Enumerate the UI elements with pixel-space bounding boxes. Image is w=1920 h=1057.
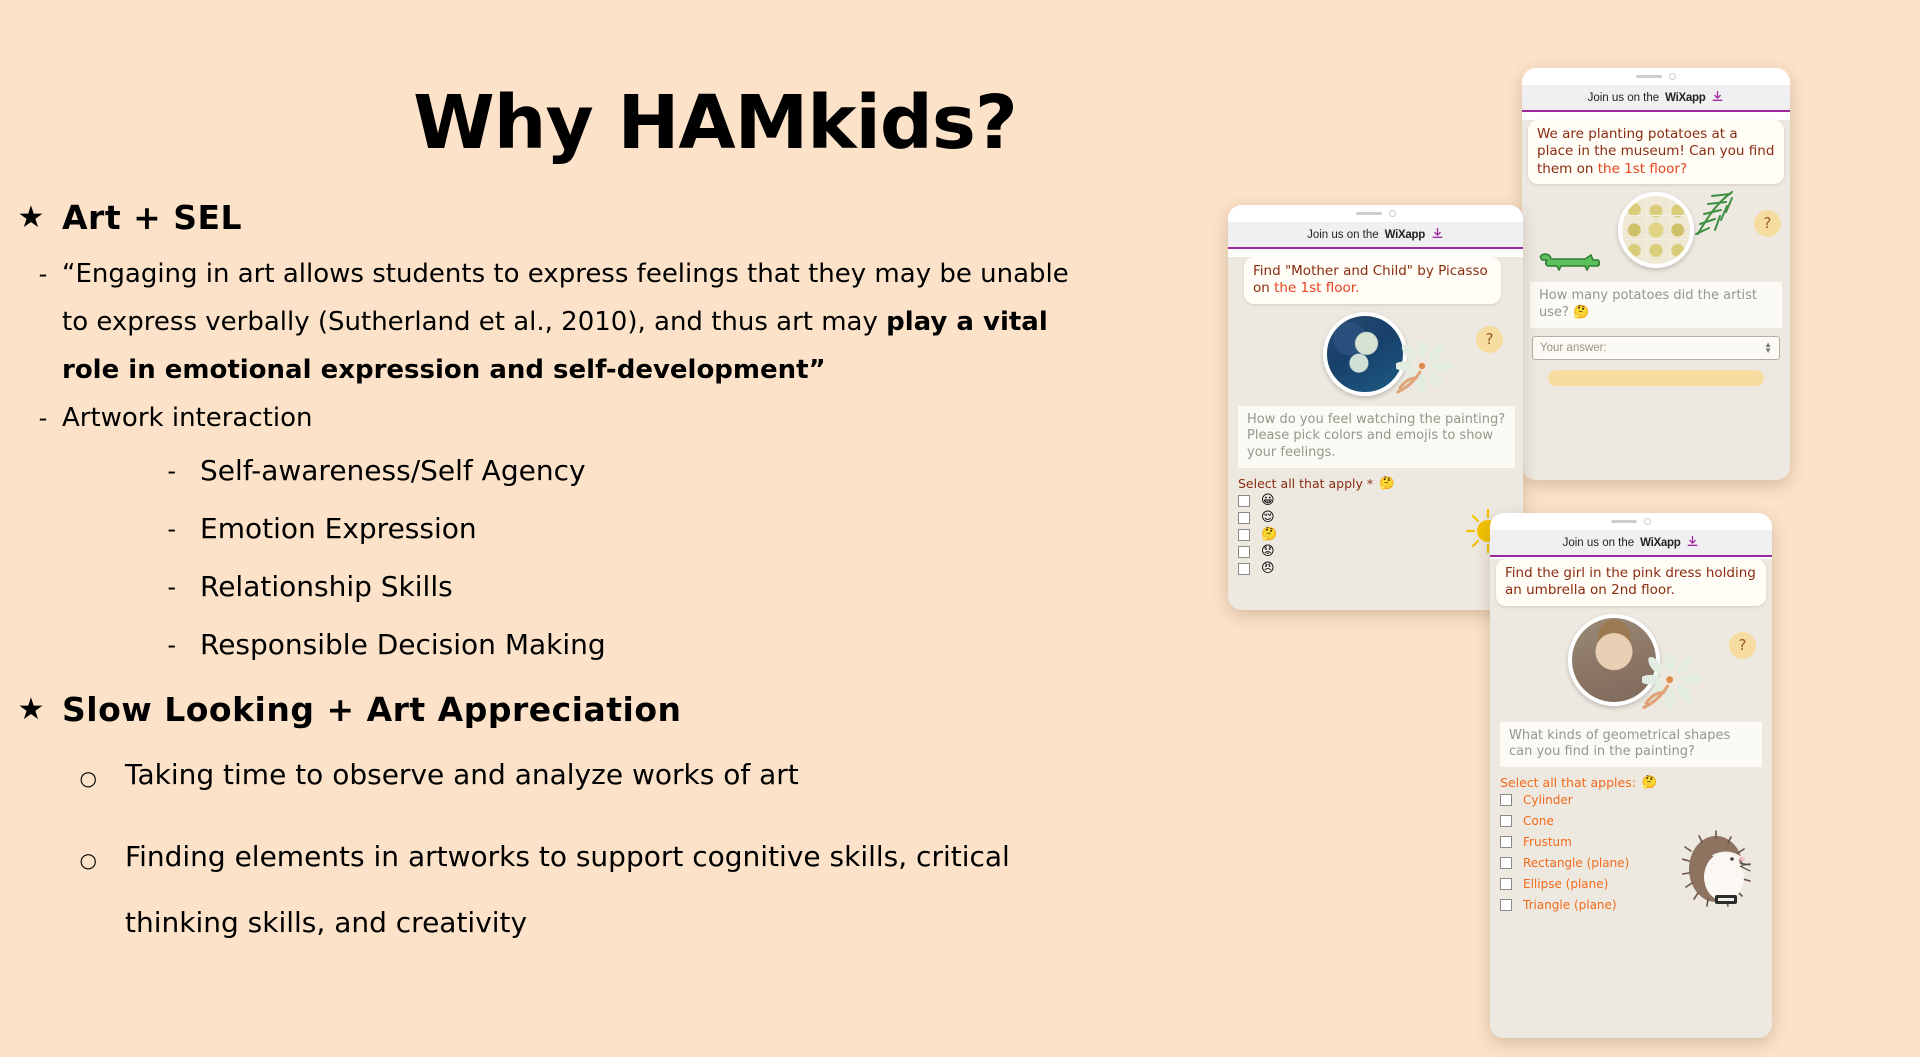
thinking-face-icon: 🤔 [1642, 774, 1658, 790]
appbar-prefix: Join us on the [1307, 229, 1379, 241]
speaker-bar-icon [1636, 75, 1662, 78]
number-stepper-icon[interactable]: ▲▼ [1764, 342, 1772, 354]
hedgehog-icon [1682, 827, 1758, 907]
list-item: - Responsible Decision Making [0, 616, 1230, 674]
phone-screen: We are planting potatoes at a place in t… [1522, 120, 1790, 480]
phone-notch [1522, 68, 1790, 85]
dash-bullet-icon: - [0, 500, 200, 558]
task-bubble: Find "Mother and Child" by Picasso on th… [1244, 257, 1501, 304]
sel-item-emotion-expression: Emotion Expression [200, 500, 477, 558]
list-item: - Self-awareness/Self Agency [0, 442, 1230, 500]
star-bullet-icon: ★ [0, 196, 62, 240]
camera-dot-icon [1644, 518, 1651, 525]
option-label-ellipse: Ellipse (plane) [1523, 877, 1608, 891]
select-instruction: Select all that apples: 🤔 [1500, 774, 1772, 790]
phone-mockup-mother-and-child: Join us on the WiXapp Find "Mother and C… [1228, 205, 1523, 610]
task-highlight: the 1st floor. [1274, 280, 1359, 296]
question-text: How many potatoes did the artist use? 🤔 [1530, 282, 1782, 328]
checkbox[interactable] [1238, 546, 1250, 558]
list-item: - Artwork interaction [0, 394, 1230, 442]
help-button[interactable]: ? [1476, 326, 1503, 353]
option-label-cylinder: Cylinder [1523, 793, 1573, 807]
dash-bullet-icon: - [0, 616, 200, 674]
slow-looking-item-cognitive: Finding elements in artworks to support … [125, 824, 1025, 956]
appbar-prefix: Join us on the [1588, 92, 1660, 104]
download-icon[interactable] [1431, 227, 1444, 243]
quote-text: “Engaging in art allows students to expr… [62, 250, 1072, 394]
appbar-brand: WiXapp [1640, 537, 1680, 549]
download-icon[interactable] [1686, 535, 1699, 551]
camera-dot-icon [1669, 73, 1676, 80]
angry-face-icon: 😠 [1261, 562, 1275, 575]
phone-screen: Find the girl in the pink dress holding … [1490, 559, 1772, 1038]
artwork-thumbnail[interactable] [1323, 312, 1407, 396]
checkbox[interactable] [1238, 512, 1250, 524]
artwork-row: ? [1490, 610, 1772, 718]
list-item: - Relationship Skills [0, 558, 1230, 616]
task-highlight: the 1st floor? [1598, 161, 1687, 177]
question-text: What kinds of geometrical shapes can you… [1500, 722, 1762, 768]
list-item: ○ Finding elements in artworks to suppor… [0, 824, 1230, 956]
list-item: ○ Taking time to observe and analyze wor… [0, 742, 1230, 814]
checkbox[interactable] [1238, 529, 1250, 541]
artwork-row: ? [1228, 308, 1523, 404]
checkbox[interactable] [1500, 878, 1512, 890]
checkbox[interactable] [1238, 563, 1250, 575]
option-label-triangle: Triangle (plane) [1523, 898, 1617, 912]
speaker-bar-icon [1356, 212, 1382, 215]
dash-bullet-icon: - [0, 442, 200, 500]
submit-button[interactable] [1548, 370, 1764, 386]
appbar-prefix: Join us on the [1563, 537, 1635, 549]
answer-placeholder: Your answer: [1540, 342, 1607, 354]
app-bar[interactable]: Join us on the WiXapp [1490, 530, 1772, 557]
shape-option-list: Cylinder Cone Frustum Rectangle (plane) … [1490, 793, 1772, 912]
app-bar[interactable]: Join us on the WiXapp [1522, 85, 1790, 112]
artwork-row: ? [1522, 188, 1790, 280]
task-bubble: We are planting potatoes at a place in t… [1528, 120, 1784, 184]
grinning-face-icon: 😀 [1261, 494, 1275, 507]
crocodile-icon [1536, 246, 1600, 272]
dash-bullet-icon: - [0, 250, 62, 298]
checkbox[interactable] [1500, 815, 1512, 827]
speaker-bar-icon [1611, 520, 1637, 523]
sel-item-self-awareness: Self-awareness/Self Agency [200, 442, 586, 500]
list-item: - Emotion Expression [0, 500, 1230, 558]
phone-notch [1228, 205, 1523, 222]
download-icon[interactable] [1711, 90, 1724, 106]
option-label-rectangle: Rectangle (plane) [1523, 856, 1629, 870]
list-item: - “Engaging in art allows students to ex… [0, 250, 1230, 394]
page-title: Why HAMkids? [0, 86, 1430, 160]
worried-face-icon: 😟 [1261, 545, 1275, 558]
select-instruction-text: Select all that apples: [1500, 775, 1636, 790]
dash-bullet-icon: - [0, 558, 200, 616]
list-item[interactable]: Cone [1500, 814, 1772, 828]
artwork-thumbnail[interactable] [1618, 192, 1694, 268]
heading-art-sel: Art + SEL [62, 196, 242, 240]
dash-bullet-icon: - [0, 394, 62, 442]
appbar-brand: WiXapp [1385, 229, 1425, 241]
select-instruction: Select all that apply * 🤔 [1238, 475, 1523, 491]
phone-screen: Find "Mother and Child" by Picasso on th… [1228, 257, 1523, 610]
thinking-face-icon: 🤔 [1379, 475, 1395, 491]
phone-mockup-potatoes: Join us on the WiXapp We are planting po… [1522, 68, 1790, 480]
help-button[interactable]: ? [1729, 632, 1756, 659]
checkbox[interactable] [1238, 495, 1250, 507]
list-item[interactable]: Cylinder [1500, 793, 1772, 807]
relieved-face-icon: 😌 [1261, 511, 1275, 524]
star-bullet-icon: ★ [0, 688, 62, 732]
artwork-interaction-text: Artwork interaction [62, 394, 312, 442]
list-item: ★ Slow Looking + Art Appreciation [0, 688, 1230, 732]
camera-dot-icon [1389, 210, 1396, 217]
help-button[interactable]: ? [1754, 210, 1781, 237]
heading-slow-looking: Slow Looking + Art Appreciation [62, 688, 682, 732]
select-instruction-text: Select all that apply * [1238, 476, 1373, 491]
checkbox[interactable] [1500, 836, 1512, 848]
task-lead: Find the girl in the pink dress holding … [1505, 565, 1756, 598]
phone-mockup-pink-dress: Join us on the WiXapp Find the girl in t… [1490, 513, 1772, 1038]
option-label-frustum: Frustum [1523, 835, 1572, 849]
checkbox[interactable] [1500, 899, 1512, 911]
answer-input[interactable]: Your answer: ▲▼ [1532, 336, 1780, 360]
sel-item-relationship-skills: Relationship Skills [200, 558, 453, 616]
daisy-flower-icon [1396, 342, 1458, 400]
list-item: ★ Art + SEL [0, 196, 1230, 240]
daisy-flower-icon [1642, 654, 1708, 716]
sel-item-responsible-decision-making: Responsible Decision Making [200, 616, 606, 674]
phone-notch [1490, 513, 1772, 530]
option-label-cone: Cone [1523, 814, 1554, 828]
thinking-face-icon: 🤔 [1261, 528, 1277, 541]
circle-bullet-icon: ○ [0, 742, 125, 814]
checkbox[interactable] [1500, 857, 1512, 869]
appbar-brand: WiXapp [1665, 92, 1705, 104]
list-item[interactable]: 😠 [1238, 562, 1523, 575]
outline-content: ★ Art + SEL - “Engaging in art allows st… [0, 196, 1230, 956]
circle-bullet-icon: ○ [0, 824, 125, 896]
task-bubble: Find the girl in the pink dress holding … [1496, 559, 1766, 606]
question-text: How do you feel watching the painting? P… [1238, 406, 1515, 469]
slow-looking-item-observe: Taking time to observe and analyze works… [125, 742, 799, 808]
checkbox[interactable] [1500, 794, 1512, 806]
app-bar[interactable]: Join us on the WiXapp [1228, 222, 1523, 249]
